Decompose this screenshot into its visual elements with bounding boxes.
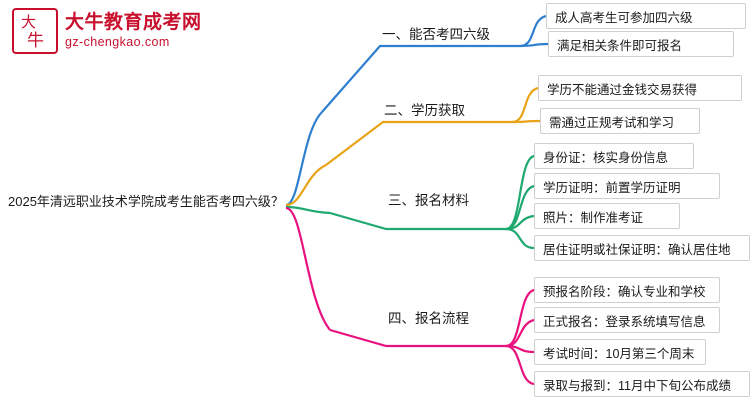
site-logo[interactable]: 大 牛 大牛教育成考网 gz-chengkao.com xyxy=(12,8,202,54)
mindmap-canvas: 大 牛 大牛教育成考网 gz-chengkao.com 2025年清远职业技术学… xyxy=(0,0,750,410)
leaf-4-3[interactable]: 考试时间：10月第三个周末 xyxy=(534,339,706,365)
leaf-4-4[interactable]: 录取与报到：11月中下旬公布成绩 xyxy=(534,371,750,397)
logo-bull-icon: 大 牛 xyxy=(12,8,58,54)
branch-label-1[interactable]: 一、能否考四六级 xyxy=(382,26,490,47)
branch-label-2[interactable]: 二、学历获取 xyxy=(384,102,465,123)
leaf-3-4[interactable]: 居住证明或社保证明：确认居住地 xyxy=(534,235,750,261)
leaf-1-1[interactable]: 成人高考生可参加四六级 xyxy=(546,3,746,29)
svg-text:大: 大 xyxy=(21,14,36,31)
logo-subtitle: gz-chengkao.com xyxy=(65,36,202,49)
logo-title: 大牛教育成考网 xyxy=(65,13,202,33)
logo-text-block: 大牛教育成考网 gz-chengkao.com xyxy=(65,13,202,49)
leaf-4-1[interactable]: 预报名阶段：确认专业和学校 xyxy=(534,277,720,303)
leaf-3-1[interactable]: 身份证：核实身份信息 xyxy=(534,143,694,169)
mindmap-root-label: 2025年清远职业技术学院成考生能否考四六级？ xyxy=(8,193,284,211)
branch-label-3[interactable]: 三、报名材料 xyxy=(388,192,469,213)
leaf-1-2[interactable]: 满足相关条件即可报名 xyxy=(548,31,734,57)
svg-text:牛: 牛 xyxy=(27,31,44,50)
leaf-3-3[interactable]: 照片：制作准考证 xyxy=(534,203,680,229)
leaf-4-2[interactable]: 正式报名：登录系统填写信息 xyxy=(534,307,720,333)
leaf-2-2[interactable]: 需通过正规考试和学习 xyxy=(540,108,700,134)
leaf-2-1[interactable]: 学历不能通过金钱交易获得 xyxy=(538,75,742,101)
branch-label-4[interactable]: 四、报名流程 xyxy=(388,310,469,331)
leaf-3-2[interactable]: 学历证明：前置学历证明 xyxy=(534,173,720,199)
